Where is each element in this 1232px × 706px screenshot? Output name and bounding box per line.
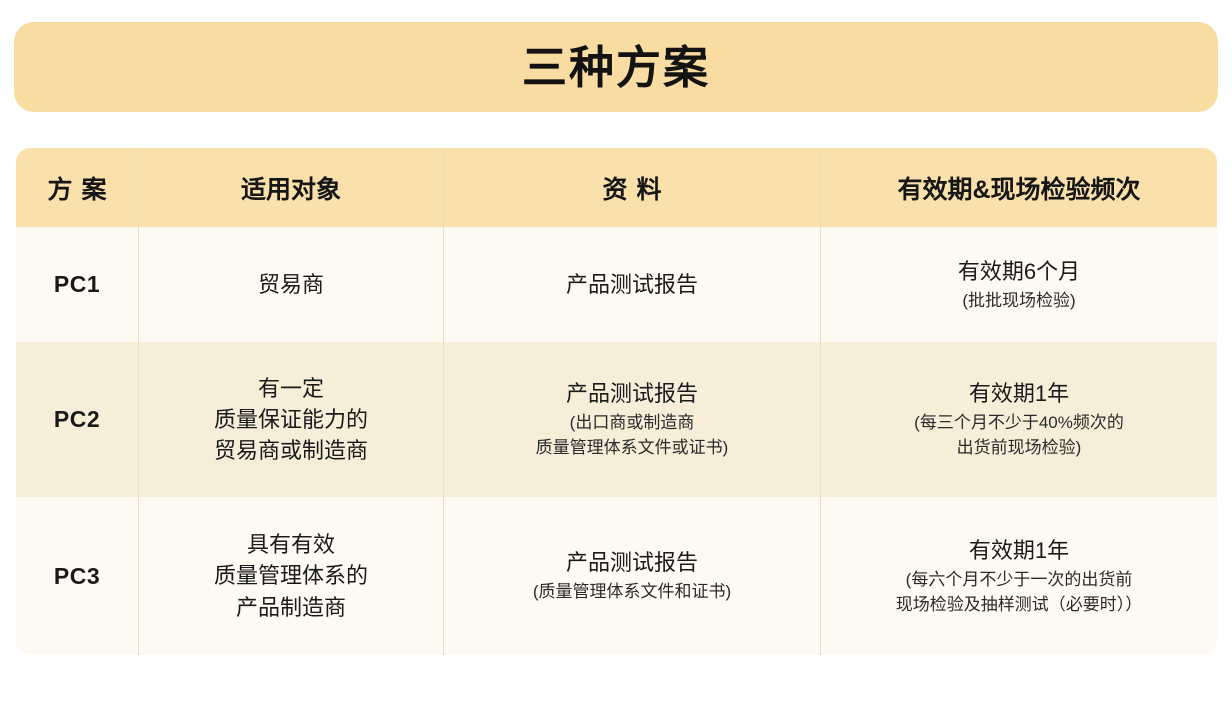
page-title: 三种方案 — [522, 45, 710, 90]
cell-documents: 产品测试报告 (质量管理体系文件和证书) — [443, 497, 820, 655]
page-title-banner: 三种方案 — [14, 22, 1218, 112]
table-header-row: 方案 适用对象 资料 有效期&现场检验频次 — [16, 148, 1217, 227]
plan-code-value: PC2 — [54, 406, 100, 433]
documents-main-lines: 产品测试报告 — [566, 547, 698, 578]
cell-audience: 具有有效质量管理体系的产品制造商 — [138, 497, 443, 655]
documents-sub-lines: (质量管理体系文件和证书) — [533, 580, 731, 605]
plan-code-value: PC1 — [54, 271, 100, 298]
table-row: PC1 贸易商 产品测试报告 有效期6个月 (批批现场检验) — [16, 227, 1217, 342]
column-header-plan: 方案 — [16, 148, 138, 227]
validity-sub-lines: (每三个月不少于40%频次的出货前现场检验) — [914, 411, 1124, 460]
validity-main-lines: 有效期1年 — [969, 535, 1069, 566]
audience-lines: 具有有效质量管理体系的产品制造商 — [214, 529, 368, 623]
validity-main-lines: 有效期6个月 — [958, 256, 1080, 287]
documents-sub-lines: (出口商或制造商质量管理体系文件或证书) — [536, 411, 729, 460]
audience-lines: 有一定质量保证能力的贸易商或制造商 — [214, 373, 368, 467]
documents-main-lines: 产品测试报告 — [566, 378, 698, 409]
cell-validity: 有效期6个月 (批批现场检验) — [820, 227, 1217, 342]
column-header-validity: 有效期&现场检验频次 — [820, 148, 1217, 227]
cell-documents: 产品测试报告 (出口商或制造商质量管理体系文件或证书) — [443, 342, 820, 497]
table-row: PC3 具有有效质量管理体系的产品制造商 产品测试报告 (质量管理体系文件和证书… — [16, 497, 1217, 655]
documents-main-lines: 产品测试报告 — [566, 269, 698, 300]
cell-validity: 有效期1年 (每三个月不少于40%频次的出货前现场检验) — [820, 342, 1217, 497]
cell-validity: 有效期1年 (每六个月不少于一次的出货前现场检验及抽样测试（必要时）） — [820, 497, 1217, 655]
cell-plan-code: PC3 — [16, 497, 138, 655]
audience-lines: 贸易商 — [258, 269, 324, 300]
cell-plan-code: PC2 — [16, 342, 138, 497]
column-header-audience: 适用对象 — [138, 148, 443, 227]
plan-code-value: PC3 — [54, 563, 100, 590]
cell-plan-code: PC1 — [16, 227, 138, 342]
validity-sub-lines: (批批现场检验) — [962, 289, 1075, 314]
table-row: PC2 有一定质量保证能力的贸易商或制造商 产品测试报告 (出口商或制造商质量管… — [16, 342, 1217, 497]
cell-audience: 贸易商 — [138, 227, 443, 342]
validity-main-lines: 有效期1年 — [969, 378, 1069, 409]
cell-audience: 有一定质量保证能力的贸易商或制造商 — [138, 342, 443, 497]
column-header-documents: 资料 — [443, 148, 820, 227]
plan-comparison-table: 方案 适用对象 资料 有效期&现场检验频次 PC1 贸易商 产品测试报告 有效期… — [16, 148, 1217, 655]
validity-sub-lines: (每六个月不少于一次的出货前现场检验及抽样测试（必要时）） — [896, 568, 1143, 617]
cell-documents: 产品测试报告 — [443, 227, 820, 342]
